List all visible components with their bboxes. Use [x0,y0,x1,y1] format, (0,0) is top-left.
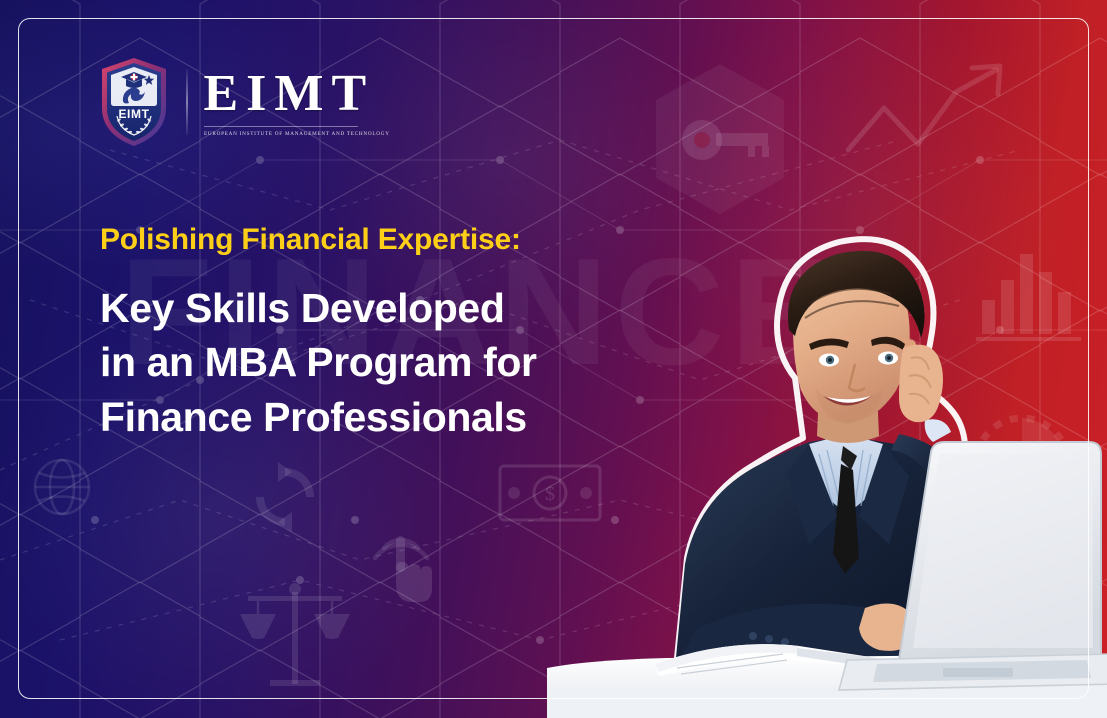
svg-text:EIMT: EIMT [118,107,149,121]
key-icon [650,60,790,220]
logo-name: EIMT [204,67,375,121]
dollar-bill-icon: $ [498,462,602,524]
hero-banner: FINANCE [0,0,1107,718]
logo-wordmark: EIMT EUROPEAN INSTITUTE OF MANAGEMENT AN… [204,67,375,137]
svg-text:$: $ [545,483,555,505]
headline-line-3: Finance Professionals [100,390,660,445]
logo-tagline-wrap: EUROPEAN INSTITUTE OF MANAGEMENT AND TEC… [204,126,358,137]
brand-logo[interactable]: EIMT EIMT E [98,56,374,148]
headline-eyebrow: Polishing Financial Expertise: [100,222,660,259]
eimt-shield-icon: EIMT [98,56,170,148]
scales-of-justice-icon [236,580,356,698]
bar-chart-icon [976,244,1086,344]
globe-icon [30,455,94,519]
headline-line-2: in an MBA Program for [100,335,660,390]
touch-tap-icon [358,512,444,608]
pie-chart-icon [962,404,1082,524]
growth-arrow-icon [846,48,1036,198]
logo-divider [186,69,188,135]
headline-block: Polishing Financial Expertise: Key Skill… [100,222,660,444]
headline-line-1: Key Skills Developed [100,281,660,336]
logo-tagline: EUROPEAN INSTITUTE OF MANAGEMENT AND TEC… [204,131,361,137]
refresh-cycle-icon [248,460,322,534]
